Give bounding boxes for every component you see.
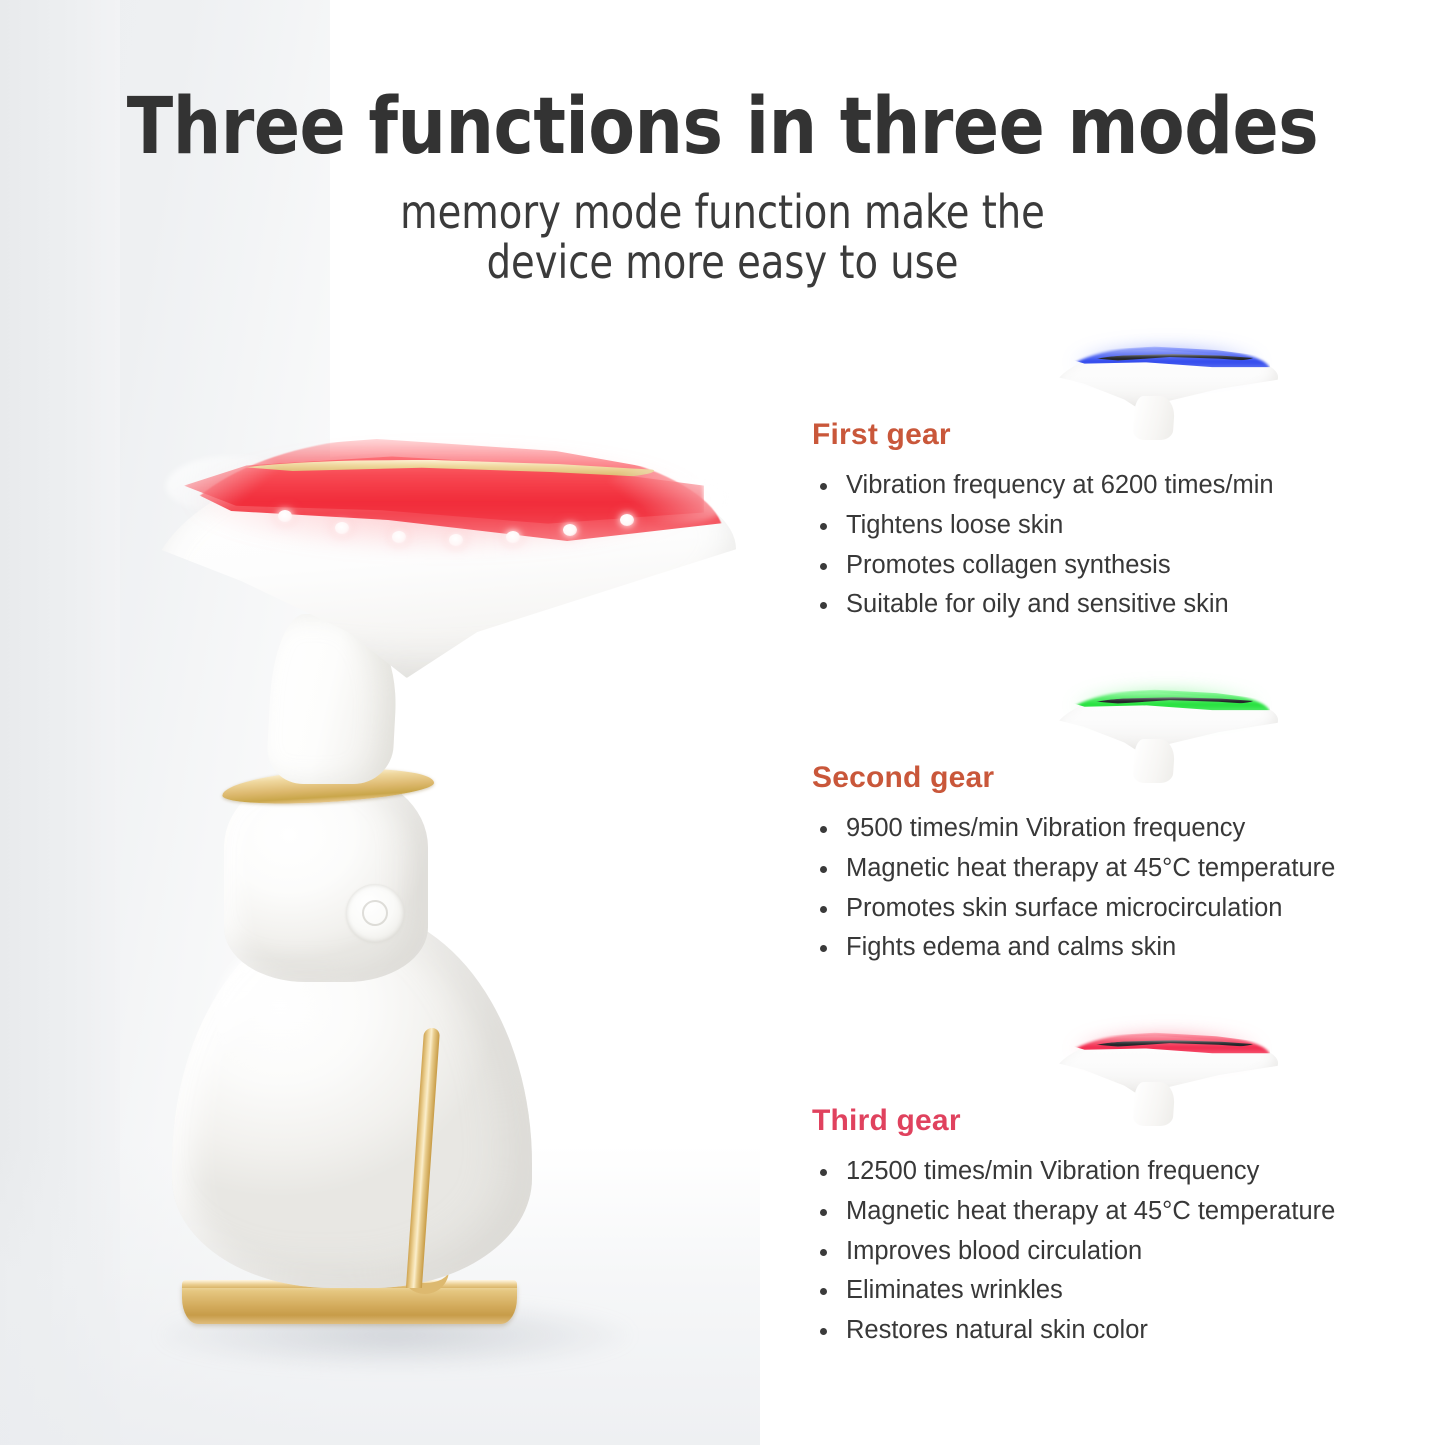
page-title: Three functions in three modes: [22, 88, 1424, 166]
list-item-label: Restores natural skin color: [846, 1316, 1148, 1344]
gear-list-column: First gear Vibration frequency at 6200 t…: [812, 330, 1432, 1351]
device-head-green-glow-icon: [1038, 673, 1288, 783]
list-item: Suitable for oily and sensitive skin: [812, 585, 1432, 625]
list-item: Magnetic heat therapy at 45°C temperatur…: [812, 1192, 1432, 1232]
led-dot: [449, 534, 463, 546]
list-item-label: Magnetic heat therapy at 45°C temperatur…: [846, 1197, 1335, 1225]
bullet-icon: [820, 1328, 827, 1335]
list-item: Improves blood circulation: [812, 1232, 1432, 1272]
bullet-icon: [820, 826, 827, 833]
thumb-stem: [1132, 396, 1175, 440]
device-head-blue-glow-icon: [1038, 330, 1288, 440]
list-item-label: Fights edema and calms skin: [846, 933, 1176, 961]
bullet-icon: [820, 906, 827, 913]
bullet-icon: [820, 1249, 827, 1256]
list-item: Restores natural skin color: [812, 1311, 1432, 1351]
device-head-red-glow-icon: [1038, 1016, 1288, 1126]
thumb-stem: [1132, 739, 1175, 783]
led-dot: [392, 531, 406, 543]
bullet-icon: [820, 602, 827, 609]
gear-section-first: First gear Vibration frequency at 6200 t…: [812, 330, 1432, 625]
bullet-icon: [820, 563, 827, 570]
header-block: Three functions in three modes memory mo…: [0, 88, 1445, 287]
list-item-label: Vibration frequency at 6200 times/min: [846, 471, 1274, 499]
device-upper-handle: [224, 772, 428, 982]
head-left-highlight: [166, 456, 286, 512]
list-item-label: Promotes skin surface microcirculation: [846, 894, 1282, 922]
list-item: 12500 times/min Vibration frequency: [812, 1152, 1432, 1192]
page-subtitle-line1: memory mode function make the: [51, 188, 1395, 238]
list-item-label: Magnetic heat therapy at 45°C temperatur…: [846, 854, 1335, 882]
list-item-label: Improves blood circulation: [846, 1237, 1142, 1265]
list-item: Magnetic heat therapy at 45°C temperatur…: [812, 849, 1432, 889]
bullet-icon: [820, 1288, 827, 1295]
device-head: [132, 412, 752, 752]
list-item: 9500 times/min Vibration frequency: [812, 809, 1432, 849]
led-dot: [506, 531, 520, 543]
bullet-icon: [820, 1209, 827, 1216]
bullet-icon: [820, 945, 827, 952]
list-item: Eliminates wrinkles: [812, 1271, 1432, 1311]
bullet-icon: [820, 866, 827, 873]
power-icon: [362, 900, 388, 926]
gear-bullets-second: 9500 times/min Vibration frequency Magne…: [812, 809, 1432, 968]
led-dot: [563, 524, 577, 536]
list-item: Tightens loose skin: [812, 506, 1432, 546]
gear-thumb-wrap-second: [812, 673, 1432, 761]
list-item-label: Tightens loose skin: [846, 511, 1063, 539]
list-item-label: 9500 times/min Vibration frequency: [846, 814, 1245, 842]
list-item-label: Promotes collagen synthesis: [846, 551, 1171, 579]
led-dot: [278, 510, 292, 522]
bullet-icon: [820, 483, 827, 490]
list-item: Promotes skin surface microcirculation: [812, 889, 1432, 929]
bullet-icon: [820, 1169, 827, 1176]
gear-bullets-third: 12500 times/min Vibration frequency Magn…: [812, 1152, 1432, 1351]
gear-section-second: Second gear 9500 times/min Vibration fre…: [812, 673, 1432, 968]
list-item-label: Eliminates wrinkles: [846, 1276, 1063, 1304]
product-image: [120, 400, 780, 1380]
gear-thumb-wrap-third: [812, 1016, 1432, 1104]
infographic-page: Three functions in three modes memory mo…: [0, 0, 1445, 1445]
gear-bullets-first: Vibration frequency at 6200 times/min Ti…: [812, 466, 1432, 625]
bullet-icon: [820, 523, 827, 530]
page-subtitle-line2: device more easy to use: [51, 238, 1395, 288]
gear-thumb-wrap-first: [812, 330, 1432, 418]
list-item-label: 12500 times/min Vibration frequency: [846, 1157, 1259, 1185]
led-dot: [620, 514, 634, 526]
list-item: Fights edema and calms skin: [812, 928, 1432, 968]
power-button[interactable]: [346, 884, 404, 942]
gold-base-plate: [182, 1284, 517, 1324]
list-item: Vibration frequency at 6200 times/min: [812, 466, 1432, 506]
list-item: Promotes collagen synthesis: [812, 546, 1432, 586]
gear-section-third: Third gear 12500 times/min Vibration fre…: [812, 1016, 1432, 1351]
thumb-stem: [1132, 1082, 1175, 1126]
list-item-label: Suitable for oily and sensitive skin: [846, 590, 1229, 618]
led-dot: [335, 522, 349, 534]
page-subtitle: memory mode function make the device mor…: [51, 188, 1395, 287]
